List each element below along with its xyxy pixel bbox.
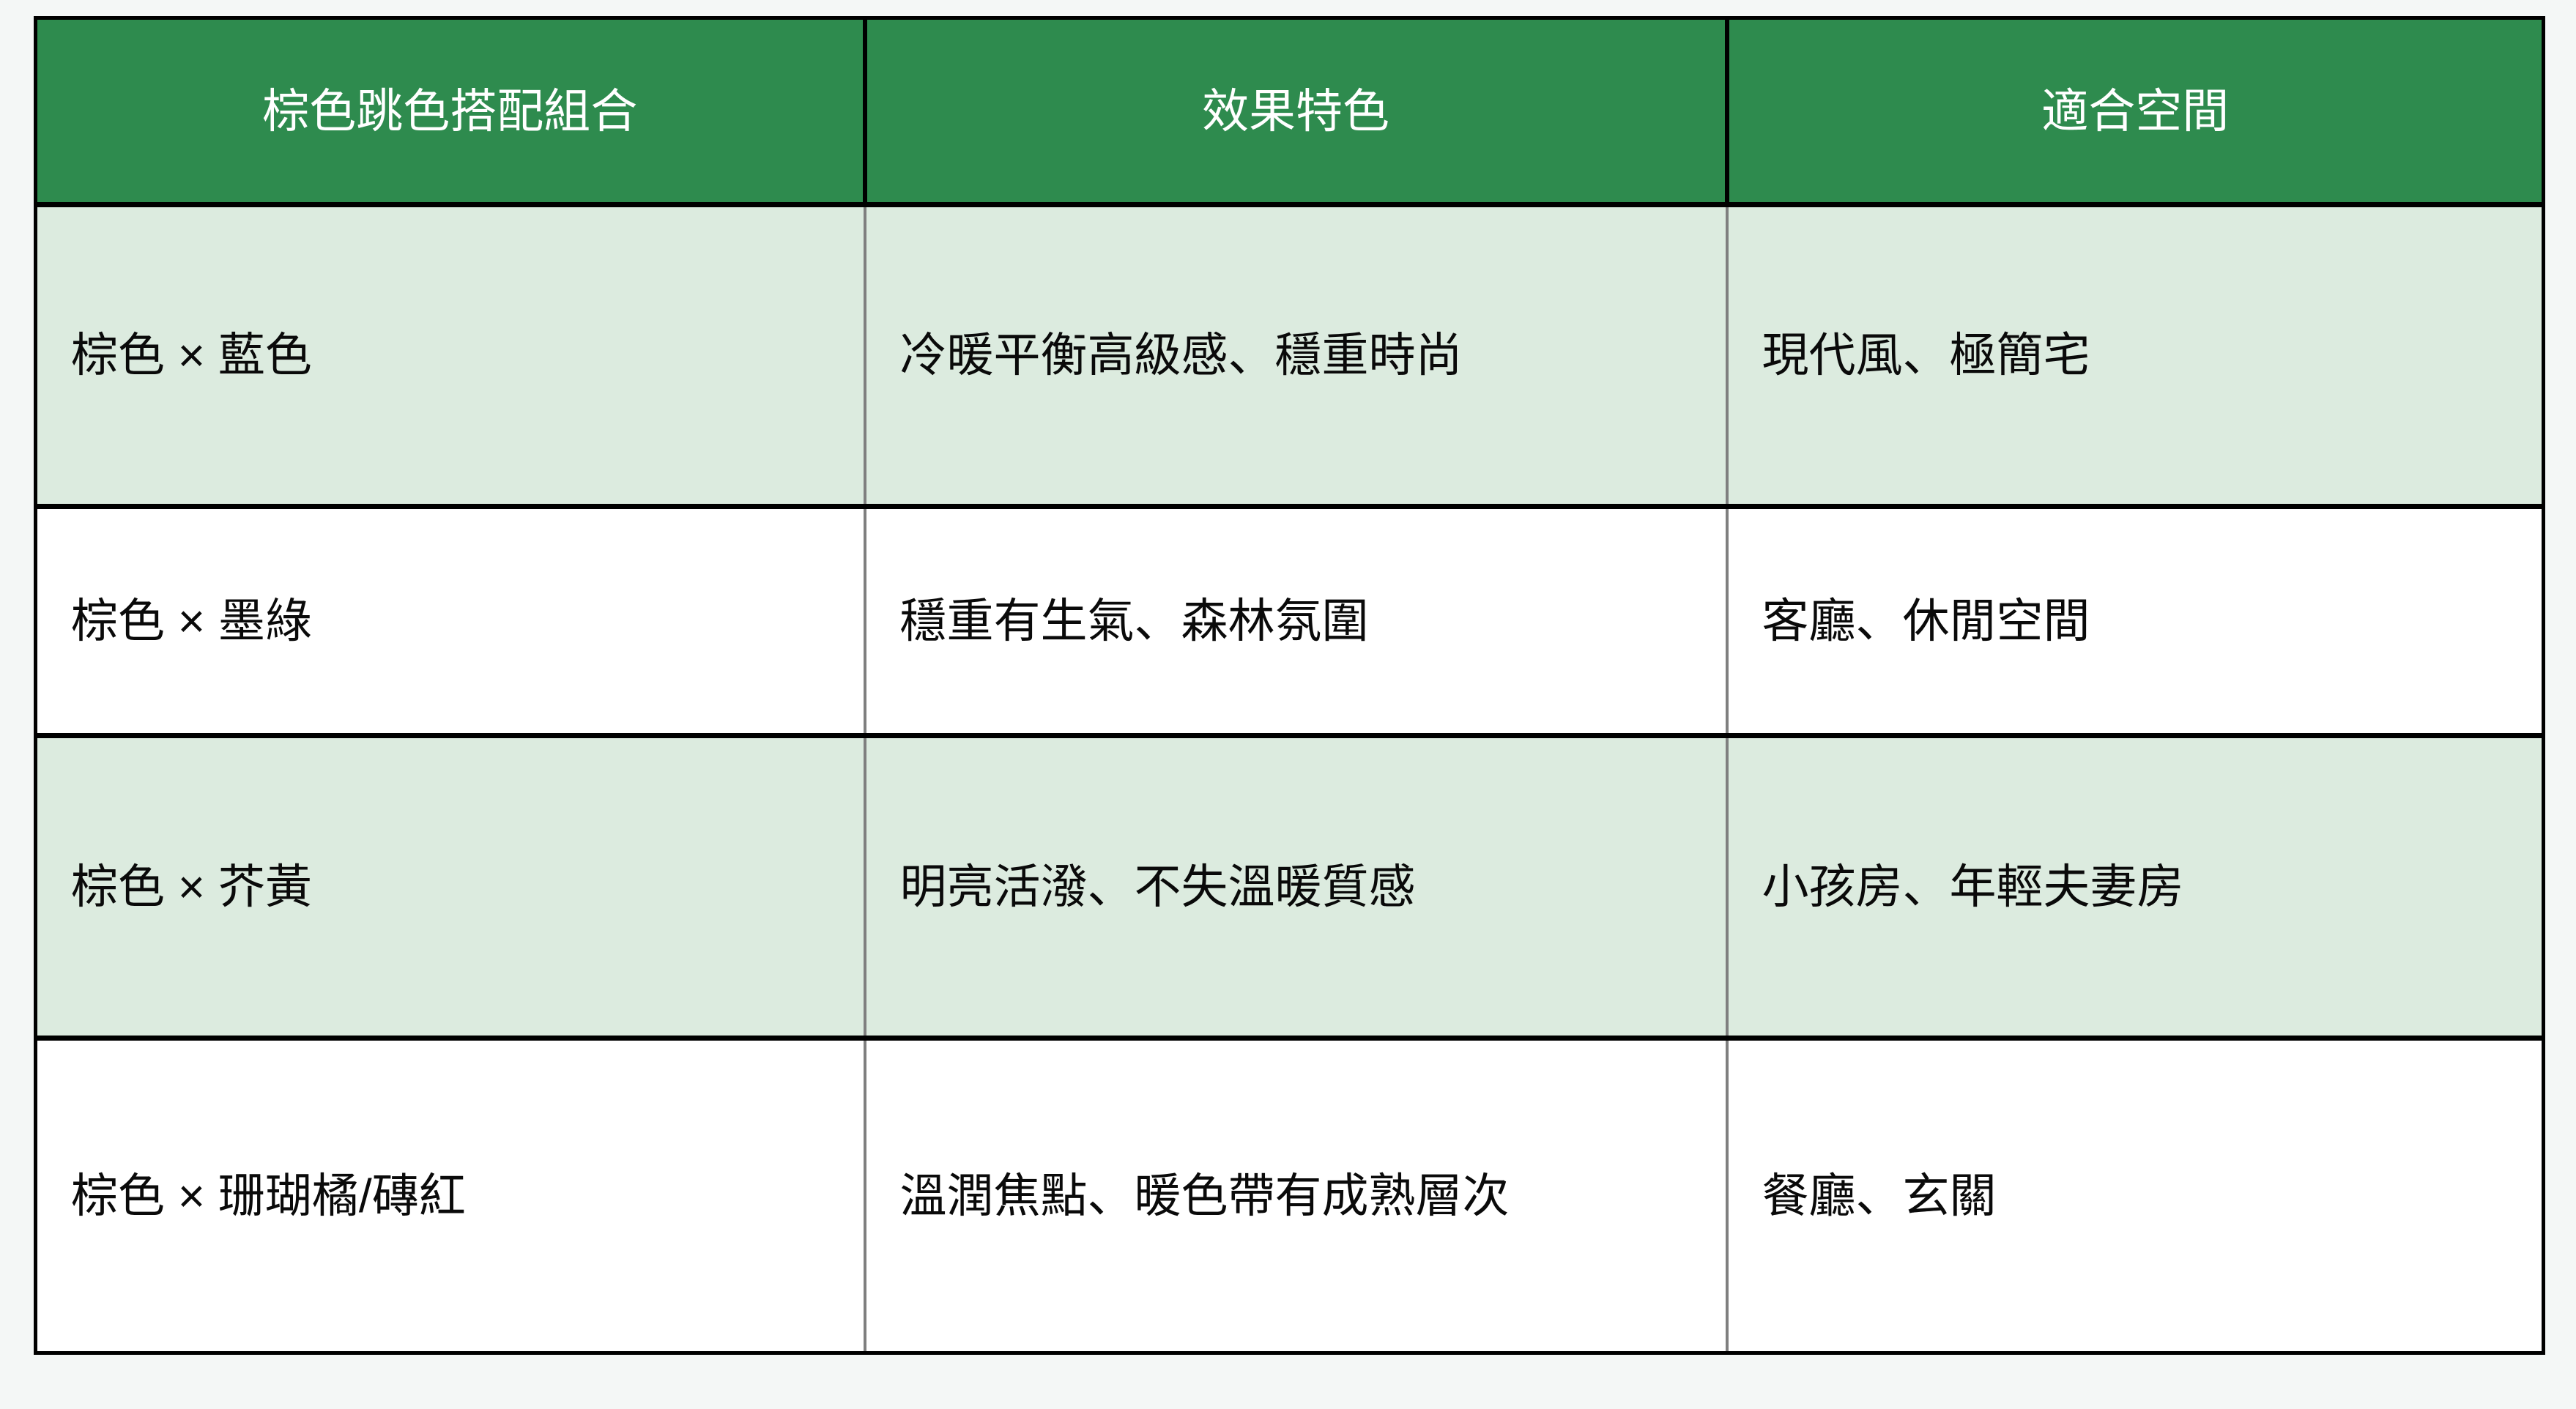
space-text: 客廳、休閒空間 — [1762, 590, 2510, 652]
cell-space: 客廳、休閒空間 — [1727, 507, 2544, 736]
header-row: 棕色跳色搭配組合 效果特色 適合空間 — [36, 18, 2544, 205]
page-root: 棕色跳色搭配組合 效果特色 適合空間 棕色 × 藍色 冷暖平衡高級感、穩重時尚 … — [0, 0, 2576, 1409]
effect-text: 冷暖平衡高級感、穩重時尚 — [900, 324, 1693, 386]
effect-text: 溫潤焦點、暖色帶有成熟層次 — [900, 1165, 1693, 1227]
color-combination-table: 棕色跳色搭配組合 效果特色 適合空間 棕色 × 藍色 冷暖平衡高級感、穩重時尚 … — [34, 16, 2545, 1355]
table-container: 棕色跳色搭配組合 效果特色 適合空間 棕色 × 藍色 冷暖平衡高級感、穩重時尚 … — [34, 16, 2542, 1355]
combination-text: 棕色 × 藍色 — [71, 324, 831, 386]
cell-space: 小孩房、年輕夫妻房 — [1727, 736, 2544, 1038]
table-row: 棕色 × 墨綠 穩重有生氣、森林氛圍 客廳、休閒空間 — [36, 507, 2544, 736]
column-header-combination: 棕色跳色搭配組合 — [36, 18, 865, 205]
cell-space: 餐廳、玄關 — [1727, 1038, 2544, 1353]
table-row: 棕色 × 珊瑚橘/磚紅 溫潤焦點、暖色帶有成熟層次 餐廳、玄關 — [36, 1038, 2544, 1353]
cell-effect: 溫潤焦點、暖色帶有成熟層次 — [865, 1038, 1727, 1353]
space-text: 現代風、極簡宅 — [1762, 324, 2510, 386]
combination-text: 棕色 × 珊瑚橘/磚紅 — [71, 1165, 831, 1227]
cell-effect: 明亮活潑、不失溫暖質感 — [865, 736, 1727, 1038]
table-row: 棕色 × 芥黃 明亮活潑、不失溫暖質感 小孩房、年輕夫妻房 — [36, 736, 2544, 1038]
column-header-space: 適合空間 — [1727, 18, 2544, 205]
effect-text: 穩重有生氣、森林氛圍 — [900, 590, 1693, 652]
cell-combination: 棕色 × 墨綠 — [36, 507, 865, 736]
space-text: 餐廳、玄關 — [1762, 1165, 2510, 1227]
table-row: 棕色 × 藍色 冷暖平衡高級感、穩重時尚 現代風、極簡宅 — [36, 205, 2544, 507]
cell-effect: 冷暖平衡高級感、穩重時尚 — [865, 205, 1727, 507]
combination-text: 棕色 × 墨綠 — [71, 590, 831, 652]
cell-combination: 棕色 × 藍色 — [36, 205, 865, 507]
cell-effect: 穩重有生氣、森林氛圍 — [865, 507, 1727, 736]
effect-text: 明亮活潑、不失溫暖質感 — [900, 856, 1693, 918]
table-body: 棕色 × 藍色 冷暖平衡高級感、穩重時尚 現代風、極簡宅 棕色 × 墨綠 穩重有… — [36, 205, 2544, 1353]
combination-text: 棕色 × 芥黃 — [71, 856, 831, 918]
table-header: 棕色跳色搭配組合 效果特色 適合空間 — [36, 18, 2544, 205]
space-text: 小孩房、年輕夫妻房 — [1762, 856, 2510, 918]
column-header-effect: 效果特色 — [865, 18, 1727, 205]
cell-combination: 棕色 × 珊瑚橘/磚紅 — [36, 1038, 865, 1353]
cell-combination: 棕色 × 芥黃 — [36, 736, 865, 1038]
cell-space: 現代風、極簡宅 — [1727, 205, 2544, 507]
